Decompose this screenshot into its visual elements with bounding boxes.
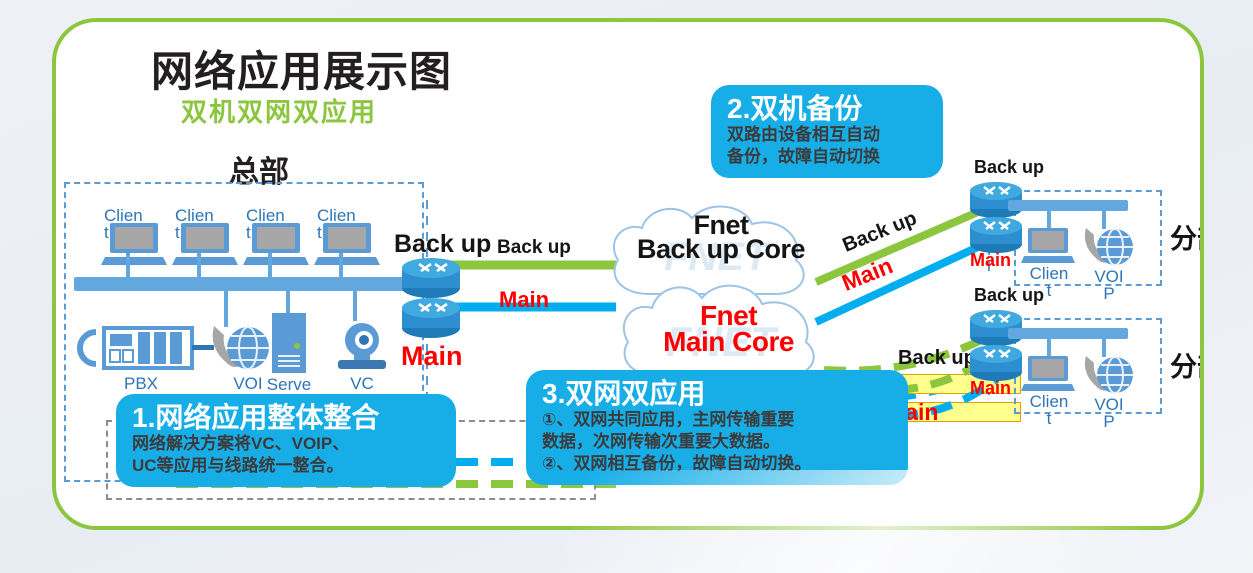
voip-globe-icon — [1080, 350, 1138, 396]
hq-device-pbx-label: PBX — [86, 374, 196, 394]
router-icon — [401, 296, 465, 340]
laptop-icon — [1023, 355, 1075, 393]
hq-stub-vc — [353, 291, 357, 321]
hq-client-3: Clien t — [246, 207, 308, 268]
callout-1-line-2: UC等应用与线路统一整合。 — [132, 455, 442, 477]
link-label-branch3-backup: Back up — [898, 348, 976, 369]
server-icon — [264, 313, 314, 375]
hq-router-main[interactable] — [401, 296, 455, 334]
branch3-voip-line1: VOI — [1080, 396, 1138, 413]
hq-client-4-label-line2: t — [317, 224, 322, 241]
callout-3: 3.双网双应用 ①、双网共同应用，主网传输重要 数据，次网传输次重要大数据。 ②… — [526, 370, 908, 485]
callout-1-line-1: 网络解决方案将VC、VOIP、 — [132, 433, 442, 455]
router-icon — [969, 215, 1025, 255]
callout-2-heading: 2.双机备份 — [727, 93, 929, 124]
branch3-lan-bar — [1008, 328, 1128, 339]
callout-1-body: 网络解决方案将VC、VOIP、 UC等应用与线路统一整合。 — [132, 433, 442, 477]
cloud-backup-core-line2: Back up Core — [621, 236, 821, 263]
branch3-device-client: Clien t — [1023, 355, 1075, 427]
callout-1: 1.网络应用整体整合 网络解决方案将VC、VOIP、 UC等应用与线路统一整合。 — [116, 394, 456, 487]
hq-router-backup-label: Back up — [394, 231, 491, 257]
branch1-router-main-label: Main — [970, 251, 1011, 270]
hq-stub-server — [286, 291, 290, 315]
cloud-main-core-line2: Main Core — [626, 328, 831, 356]
hq-client-2: Clien t — [175, 207, 237, 268]
callout-3-body: ①、双网共同应用，主网传输重要 数据，次网传输次重要大数据。 ②、双网相互备份，… — [542, 409, 894, 474]
link-label-hq-backup: Back up — [497, 238, 571, 258]
branch1-router-backup-label: Back up — [974, 158, 1044, 177]
diagram-canvas: 网络应用展示图 双机双网双应用 — [0, 0, 1253, 573]
branch1-client-line1: Clien — [1023, 265, 1075, 282]
callout-2-line-2: 备份，故障自动切换 — [727, 146, 929, 168]
video-camera-icon — [332, 320, 392, 374]
branch1-lan-bar — [1008, 200, 1128, 211]
hq-router-backup[interactable] — [401, 256, 455, 294]
callout-2: 2.双机备份 双路由设备相互自动 备份，故障自动切换 — [711, 85, 943, 178]
branch1-voip-line2: P — [1080, 285, 1138, 302]
branch1-device-voip: VOI P — [1080, 222, 1138, 302]
callout-3-line-1: ①、双网共同应用，主网传输重要 — [542, 409, 894, 431]
laptop-icon — [317, 222, 379, 268]
callout-2-line-1: 双路由设备相互自动 — [727, 124, 929, 146]
branch3-router-main-label: Main — [970, 379, 1011, 398]
branch3-router-backup[interactable] — [969, 308, 1023, 346]
laptop-icon — [246, 222, 308, 268]
callout-3-line-2: 数据，次网传输次重要大数据。 — [542, 431, 894, 453]
hq-client-4: Clien t — [317, 207, 379, 268]
hq-device-pbx: PBX — [86, 322, 196, 394]
router-icon — [969, 343, 1025, 383]
branch3-client-line2: t — [1023, 410, 1075, 427]
diagram-card: 网络应用展示图 双机双网双应用 — [52, 18, 1204, 530]
branch1-router-backup[interactable] — [969, 180, 1023, 218]
branch3-device-voip: VOI P — [1080, 350, 1138, 430]
hq-stub-c4 — [339, 253, 343, 277]
laptop-icon — [1023, 227, 1075, 265]
hq-client-3-label-line2: t — [246, 224, 251, 241]
callout-1-heading: 1.网络应用整体整合 — [132, 402, 442, 433]
hq-client-1-label-line2: t — [104, 224, 109, 241]
cloud-main-core-label: Fnet Main Core — [626, 302, 831, 356]
link-label-hq-main: Main — [499, 288, 549, 311]
branch1-router-main[interactable] — [969, 215, 1023, 253]
hq-client-2-label-line2: t — [175, 224, 180, 241]
branch1-voip-line1: VOI — [1080, 268, 1138, 285]
hq-device-vc: VC — [332, 320, 392, 394]
branch3-name: 分部3 — [1170, 345, 1204, 384]
hq-stub-c3 — [268, 253, 272, 277]
callout-3-line-3: ②、双网相互备份，故障自动切换。 — [542, 453, 894, 475]
hq-client-1: Clien t — [104, 207, 166, 268]
branch3-router-main[interactable] — [969, 343, 1023, 381]
cloud-backup-core-label: Fnet Back up Core — [621, 212, 821, 263]
hq-stub-c1 — [126, 253, 130, 277]
callout-3-heading: 3.双网双应用 — [542, 378, 894, 409]
hq-device-vc-label: VC — [332, 374, 392, 394]
pbx-icon — [86, 322, 196, 374]
branch3-router-backup-label: Back up — [974, 286, 1044, 305]
branch3-voip-line2: P — [1080, 413, 1138, 430]
branch3-client-line1: Clien — [1023, 393, 1075, 410]
branch1-name: 分部1 — [1170, 217, 1204, 256]
laptop-icon — [104, 222, 166, 268]
hq-stub-c2 — [197, 253, 201, 277]
hq-lan-bar — [74, 277, 419, 291]
voip-globe-icon — [1080, 222, 1138, 268]
hq-device-server-label: Serve — [264, 375, 314, 395]
hq-router-main-label: Main — [401, 342, 463, 370]
hq-device-server: Serve — [264, 313, 314, 395]
laptop-icon — [175, 222, 237, 268]
callout-2-body: 双路由设备相互自动 备份，故障自动切换 — [727, 124, 929, 168]
router-icon — [401, 256, 465, 300]
